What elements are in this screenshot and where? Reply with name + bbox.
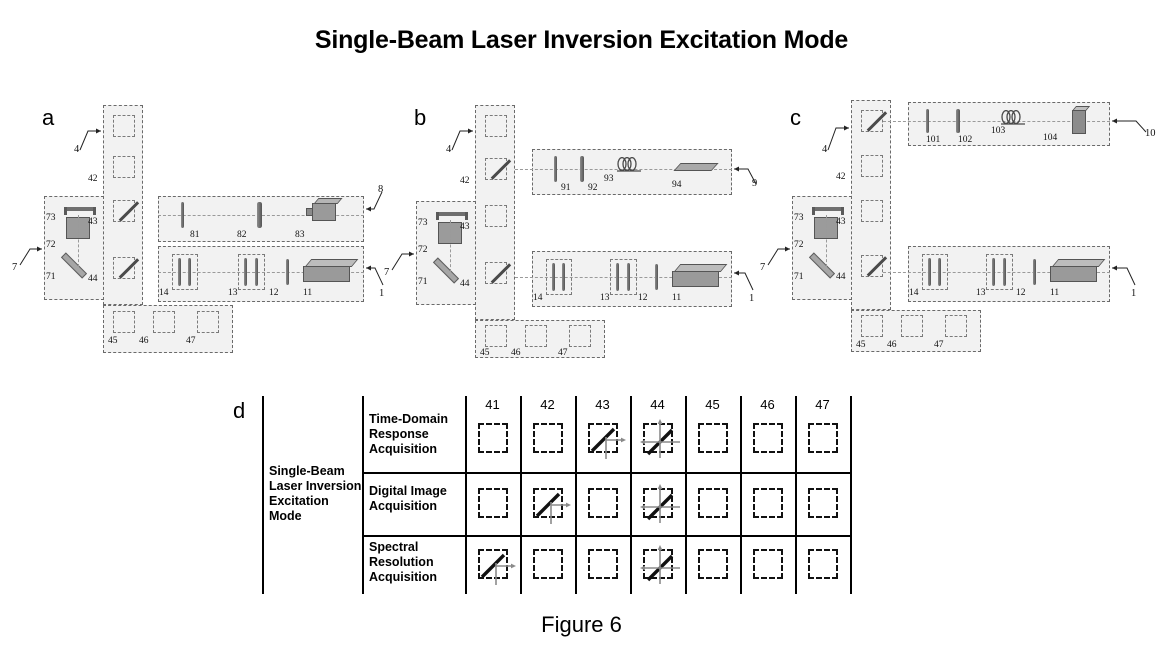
figure-caption: Figure 6 xyxy=(0,612,1163,638)
table-cell-r2-c42[interactable] xyxy=(533,549,563,579)
table-rowlabel-0: Time-Domain Response Acquisition xyxy=(369,412,461,457)
table-cell-r1-c45[interactable] xyxy=(698,488,728,518)
table-cell-r0-c41[interactable] xyxy=(478,423,508,453)
table-colhead-45: 45 xyxy=(685,397,740,412)
table-cell-r1-c46[interactable] xyxy=(753,488,783,518)
table-rowlabel-2: Spectral Resolution Acquisition xyxy=(369,540,461,585)
table-cell-r0-c47[interactable] xyxy=(808,423,838,453)
table-vline-2 xyxy=(465,396,467,594)
table-mode-label: Single-Beam Laser Inversion Excitation M… xyxy=(269,464,364,524)
table-vline-0 xyxy=(262,396,264,594)
table-cell-r2-c43[interactable] xyxy=(588,549,618,579)
panel-a-leaders xyxy=(0,0,390,380)
panel-c: c 73 72 71 101 102 103 104 xyxy=(748,0,1163,380)
table-cell-icon-r0-c44 xyxy=(636,416,680,456)
table-vline-7 xyxy=(740,396,742,594)
table-colhead-46: 46 xyxy=(740,397,795,412)
panel-a: a 73 72 71 81 82 83 14 13 12 11 42 43 44… xyxy=(0,0,390,380)
table-cell-r2-c45[interactable] xyxy=(698,549,728,579)
table-vline-3 xyxy=(520,396,522,594)
table-colhead-42: 42 xyxy=(520,397,575,412)
table-cell-icon-r1-c44 xyxy=(636,481,680,521)
table-cell-r1-c43[interactable] xyxy=(588,488,618,518)
table-cell-icon-r2-c44 xyxy=(636,542,680,582)
table-cell-r1-c47[interactable] xyxy=(808,488,838,518)
table-cell-r0-c45[interactable] xyxy=(698,423,728,453)
table-hline-1 xyxy=(362,472,850,474)
table-colhead-41: 41 xyxy=(465,397,520,412)
panel-c-leaders xyxy=(748,0,1163,380)
table-vline-6 xyxy=(685,396,687,594)
table-cell-r2-c46[interactable] xyxy=(753,549,783,579)
table-vline-4 xyxy=(575,396,577,594)
table-cell-r0-c46[interactable] xyxy=(753,423,783,453)
table-colhead-44: 44 xyxy=(630,397,685,412)
table-cell-r1-c41[interactable] xyxy=(478,488,508,518)
table-colhead-47: 47 xyxy=(795,397,850,412)
table-vline-5 xyxy=(630,396,632,594)
table-cell-icon-r2-c41 xyxy=(474,545,518,585)
panel-b-leaders xyxy=(372,0,772,385)
table-cell-icon-r1-c42 xyxy=(529,484,573,524)
table-cell-r0-c42[interactable] xyxy=(533,423,563,453)
table-hline-2 xyxy=(362,535,850,537)
table-cell-r2-c47[interactable] xyxy=(808,549,838,579)
mode-configuration-table: 41 42 43 44 45 46 47 Single-Beam Laser I… xyxy=(232,396,882,594)
table-vline-9 xyxy=(850,396,852,594)
panel-b: b 73 72 71 91 92 93 94 14 xyxy=(372,0,772,385)
table-colhead-43: 43 xyxy=(575,397,630,412)
table-rowlabel-1: Digital Image Acquisition xyxy=(369,484,461,514)
table-cell-icon-r0-c43 xyxy=(584,419,628,459)
table-vline-8 xyxy=(795,396,797,594)
